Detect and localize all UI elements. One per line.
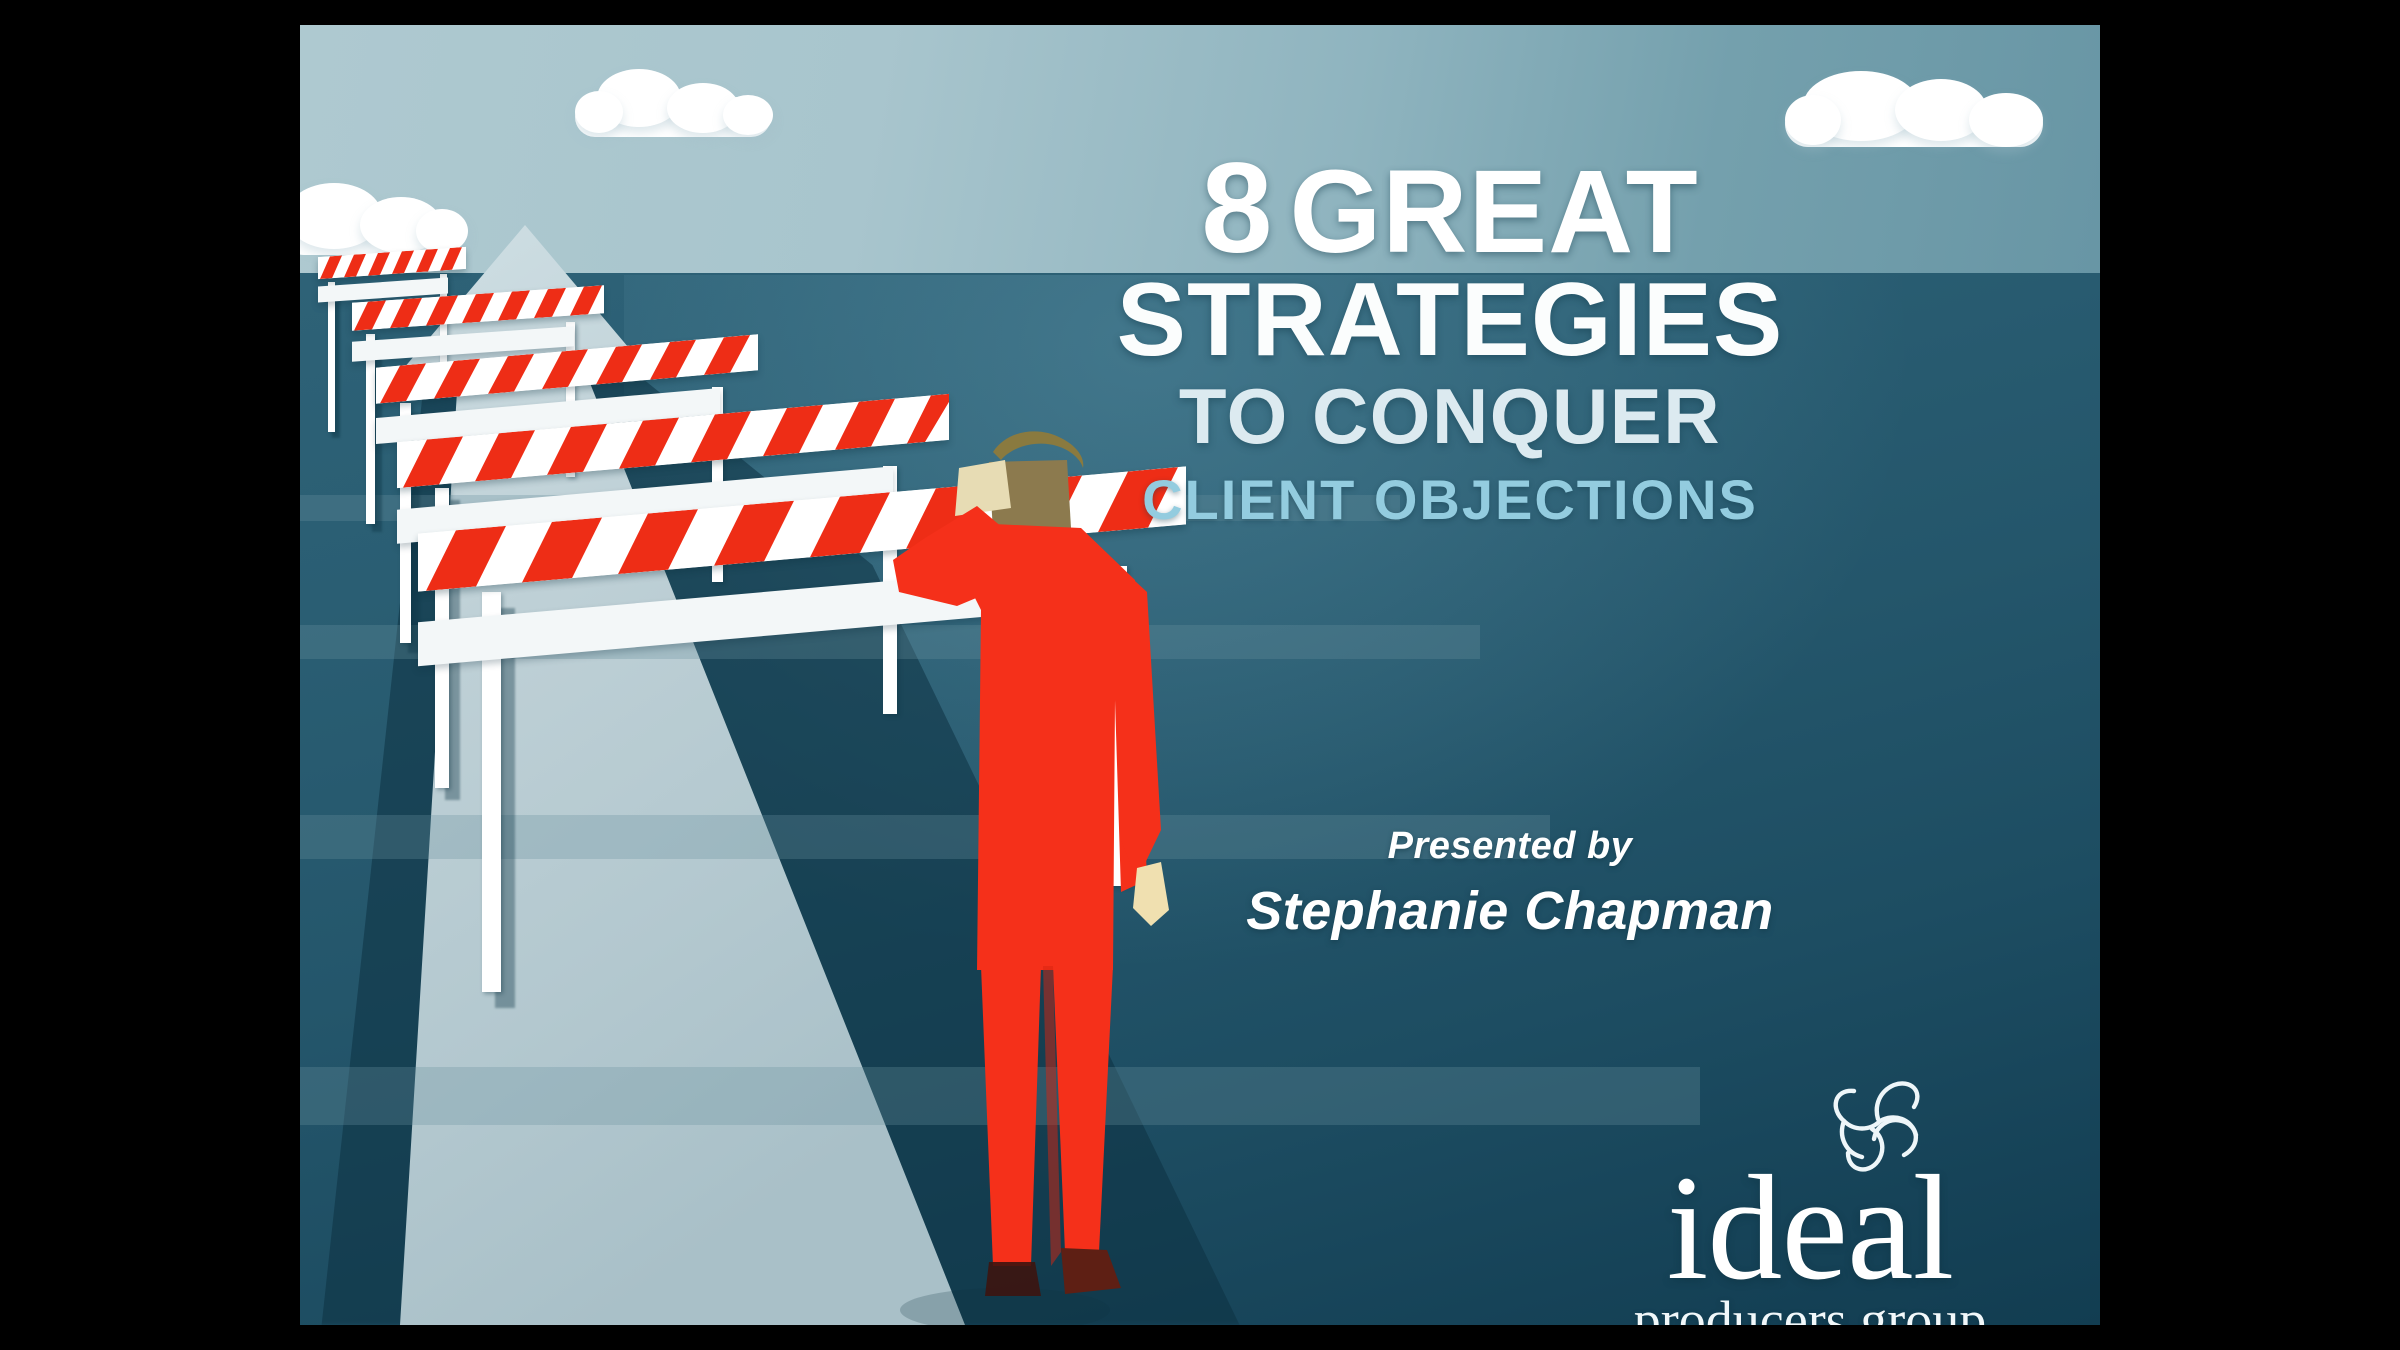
screenshot-viewport: 8GREAT STRATEGIES TO CONQUER CLIENT OBJE…: [0, 0, 2400, 1350]
title-number: 8: [1201, 137, 1273, 280]
shoe-left: [985, 1262, 1041, 1296]
slide-title-block: 8GREAT STRATEGIES TO CONQUER CLIENT OBJE…: [820, 145, 2080, 530]
title-line-1: 8GREAT: [820, 145, 2080, 273]
title-line-3: TO CONQUER: [820, 375, 2080, 458]
cloud-top-middle-icon: [575, 65, 785, 137]
right-leg: [1053, 966, 1113, 1252]
title-word-great: GREAT: [1289, 146, 1698, 278]
presenter-name: Stephanie Chapman: [1000, 880, 2020, 942]
title-line-4: CLIENT OBJECTIONS: [820, 470, 2080, 530]
logo-wordmark: ideal: [1610, 1153, 2010, 1303]
cloud-top-right-icon: [1785, 65, 2055, 147]
left-leg: [981, 966, 1041, 1266]
presentation-slide: 8GREAT STRATEGIES TO CONQUER CLIENT OBJE…: [300, 25, 2100, 1325]
logo-tagline: producers group: [1610, 1293, 2010, 1325]
presenter-block: Presented by Stephanie Chapman: [1000, 825, 2020, 942]
title-line-2: STRATEGIES: [820, 267, 2080, 373]
ideal-producers-group-logo: ideal producers group: [1610, 1065, 2010, 1325]
shoe-right: [1061, 1248, 1121, 1294]
presented-by-label: Presented by: [1000, 825, 2020, 868]
